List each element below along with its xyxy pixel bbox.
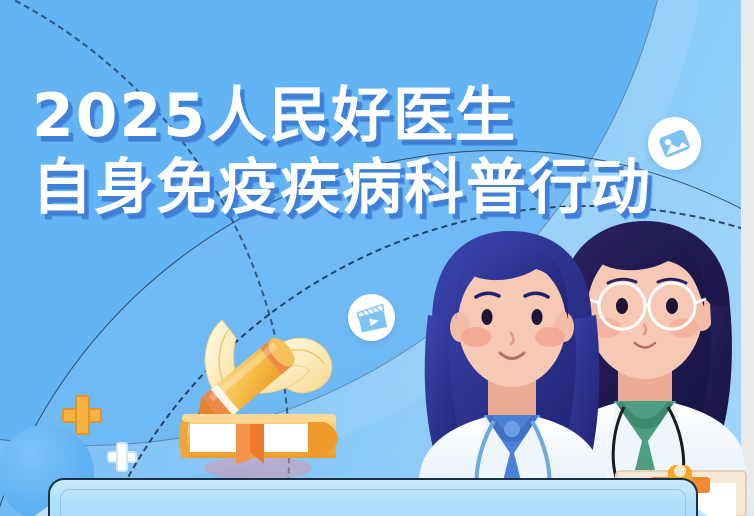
medical-cross-orange-icon (62, 395, 102, 435)
poster-title: 2025人民好医生 自身免疫疾病科普行动 (32, 86, 732, 218)
winged-pencil-and-book-illustration (150, 300, 350, 500)
title-line-2: 自身免疫疾病科普行动 (32, 158, 732, 218)
doctor-left (410, 231, 610, 516)
title-line-1: 2025人民好医生 (32, 86, 732, 146)
book (179, 414, 338, 464)
poster-banner: 2025人民好医生 自身免疫疾病科普行动 (0, 0, 754, 516)
bottom-content-panel[interactable] (48, 478, 698, 516)
doctors-illustration (410, 215, 754, 516)
medical-cross-white-icon (107, 442, 137, 472)
bottom-panel-inner-border (60, 489, 686, 516)
video-clapperboard-icon[interactable] (348, 294, 395, 341)
